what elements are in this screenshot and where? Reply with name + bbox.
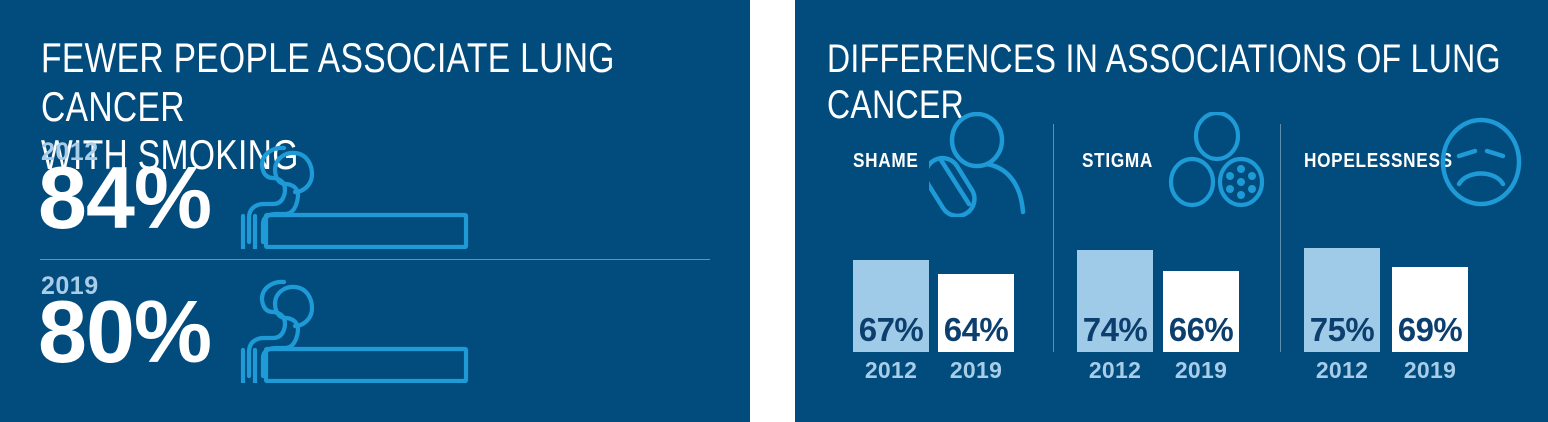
bar-chart-hopelessness: 75% 2012 69% 2019: [1300, 0, 1500, 422]
bar-2012: 67% 2012: [853, 260, 929, 352]
left-panel: FEWER PEOPLE ASSOCIATE LUNG CANCER WITH …: [0, 0, 750, 422]
bar-value-label: 75%: [1304, 313, 1380, 346]
bar-2019: 69% 2019: [1392, 267, 1468, 352]
bar-year-label: 2012: [853, 357, 929, 384]
stat-value-label: 80%: [38, 288, 211, 376]
bar-column: 64% 2019: [938, 274, 1014, 352]
bar-column: 69% 2019: [1392, 267, 1468, 352]
group-divider: [1053, 124, 1054, 352]
cigarette-icon: [232, 268, 482, 383]
bar-2019: 64% 2019: [938, 274, 1014, 352]
bar-2012: 75% 2012: [1304, 248, 1380, 352]
bar-column: 67% 2012: [853, 260, 929, 352]
bar-year-label: 2019: [938, 357, 1014, 384]
bar-chart-shame: 67% 2012 64% 2019: [845, 0, 1045, 422]
bar-value-label: 74%: [1077, 313, 1153, 346]
bar-chart-stigma: 74% 2012 66% 2019: [1075, 0, 1275, 422]
bar-year-label: 2012: [1077, 357, 1153, 384]
bar-value-label: 69%: [1392, 313, 1468, 346]
bar-value-label: 66%: [1163, 313, 1239, 346]
bar-year-label: 2019: [1163, 357, 1239, 384]
bar-2012: 74% 2012: [1077, 250, 1153, 352]
bar-value-label: 64%: [938, 313, 1014, 346]
bar-value-label: 67%: [853, 313, 929, 346]
stat-value-label: 84%: [38, 154, 211, 242]
bar-year-label: 2019: [1392, 357, 1468, 384]
left-panel-divider: [40, 259, 710, 260]
bar-column: 74% 2012: [1077, 250, 1153, 352]
cigarette-icon: [232, 134, 482, 249]
group-divider: [1280, 124, 1281, 352]
bar-column: 75% 2012: [1304, 248, 1380, 352]
bar-year-label: 2012: [1304, 357, 1380, 384]
bar-column: 66% 2019: [1163, 271, 1239, 352]
bar-2019: 66% 2019: [1163, 271, 1239, 352]
infographic-root: FEWER PEOPLE ASSOCIATE LUNG CANCER WITH …: [0, 0, 1548, 422]
